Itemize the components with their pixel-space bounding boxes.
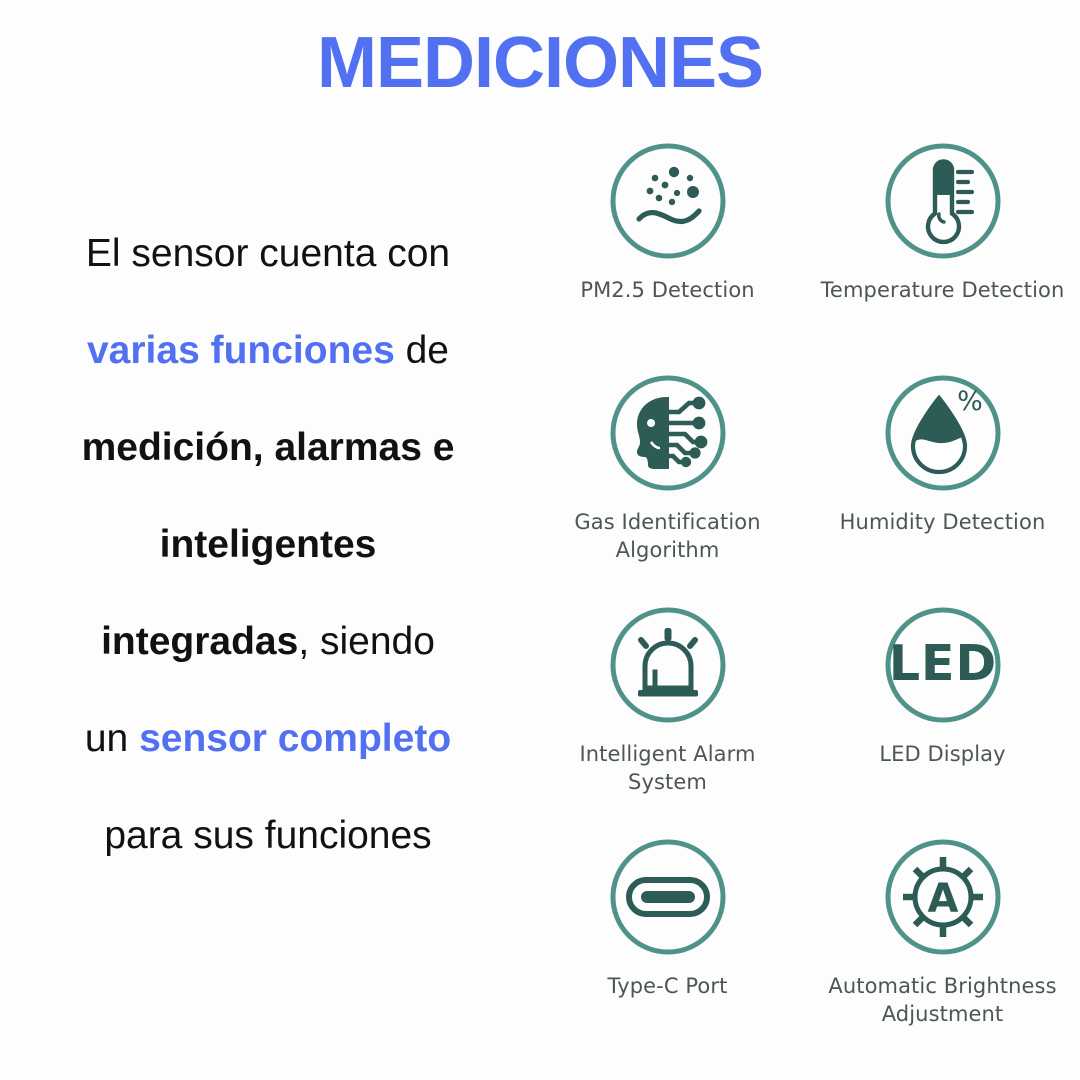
feature-grid: PM2.5 DetectionTemperature DetectionGas … xyxy=(530,140,1080,1068)
feature-item: Intelligent Alarm System xyxy=(530,604,805,836)
description-line: para sus funciones xyxy=(14,787,522,884)
text-segment: varias funciones xyxy=(87,329,395,372)
text-segment: de xyxy=(395,329,449,372)
feature-item: Type-C Port xyxy=(530,836,805,1068)
feature-label: Humidity Detection xyxy=(818,508,1068,536)
text-segment: integradas xyxy=(101,620,298,663)
text-segment: El sensor cuenta con xyxy=(86,232,450,275)
alarm-siren-icon xyxy=(607,604,729,726)
description-line: integradas, siendo xyxy=(14,593,522,690)
description-line: inteligentes xyxy=(14,496,522,593)
feature-item: %Humidity Detection xyxy=(805,372,1080,604)
feature-item: Temperature Detection xyxy=(805,140,1080,372)
text-segment: , siendo xyxy=(298,620,435,663)
led-text-icon: LED xyxy=(882,604,1004,726)
feature-item: PM2.5 Detection xyxy=(530,140,805,372)
page-title: MEDICIONES xyxy=(0,24,1080,103)
description-line: un sensor completo xyxy=(14,690,522,787)
auto-brightness-icon: A xyxy=(882,836,1004,958)
svg-text:%: % xyxy=(957,386,983,417)
text-segment: un xyxy=(85,717,139,760)
description-paragraph: El sensor cuenta convarias funciones dem… xyxy=(14,205,522,884)
description-line: varias funciones de xyxy=(14,302,522,399)
description-line: El sensor cuenta con xyxy=(14,205,522,302)
thermometer-icon xyxy=(882,140,1004,262)
usb-type-c-port-icon xyxy=(607,836,729,958)
text-segment: para sus funciones xyxy=(104,814,431,857)
feature-item: AAutomatic Brightness Adjustment xyxy=(805,836,1080,1068)
feature-item: LEDLED Display xyxy=(805,604,1080,836)
description-line: medición, alarmas e xyxy=(14,399,522,496)
feature-label: Automatic Brightness Adjustment xyxy=(818,972,1068,1028)
text-segment: medición, alarmas e xyxy=(82,426,455,469)
svg-text:LED: LED xyxy=(888,635,996,692)
feature-label: PM2.5 Detection xyxy=(543,276,793,304)
text-segment: sensor completo xyxy=(139,717,451,760)
feature-item: Gas Identification Algorithm xyxy=(530,372,805,604)
text-segment: inteligentes xyxy=(160,523,377,566)
feature-label: LED Display xyxy=(818,740,1068,768)
pm25-particles-icon xyxy=(607,140,729,262)
feature-label: Gas Identification Algorithm xyxy=(543,508,793,564)
brain-circuit-icon xyxy=(607,372,729,494)
water-droplet-percent-icon: % xyxy=(882,372,1004,494)
feature-label: Type-C Port xyxy=(543,972,793,1000)
feature-label: Temperature Detection xyxy=(818,276,1068,304)
feature-label: Intelligent Alarm System xyxy=(543,740,793,796)
svg-text:A: A xyxy=(927,876,958,922)
